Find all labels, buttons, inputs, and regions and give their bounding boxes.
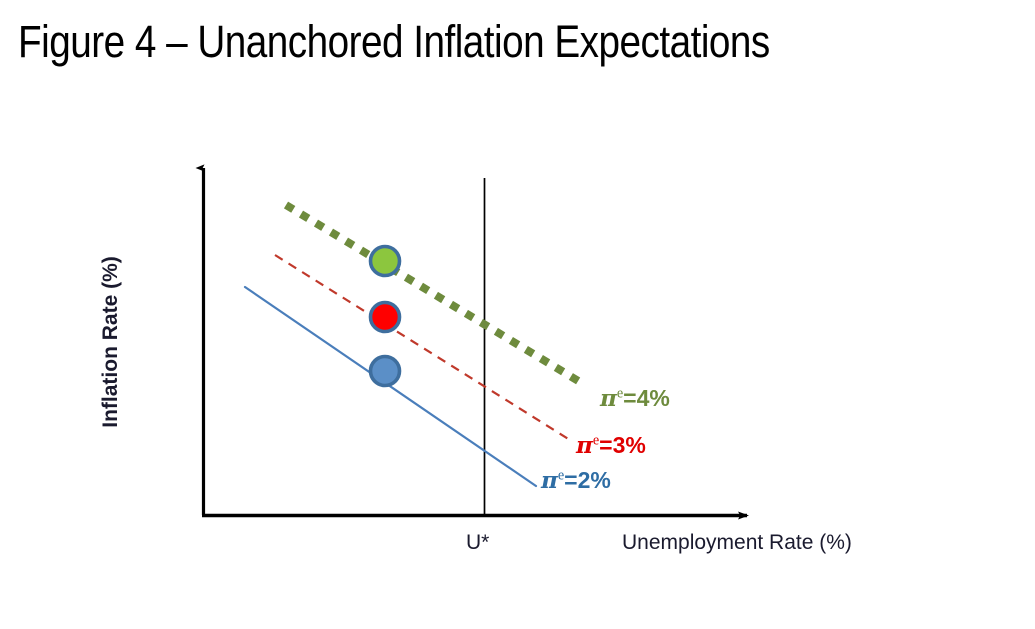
series-label-pi-e-2: πe=2% bbox=[541, 467, 611, 494]
x-axis-title: Unemployment Rate (%) bbox=[622, 531, 852, 555]
natural-rate-label: U* bbox=[466, 531, 489, 555]
phillips-curve-chart: Inflation Rate (%) Unemployment Rate (%)… bbox=[0, 0, 1035, 629]
curve-pi-e-3 bbox=[275, 255, 570, 440]
pi-symbol-green: π bbox=[600, 385, 617, 412]
data-point-pi-e-2 bbox=[371, 357, 400, 386]
pi-value-blue: =2% bbox=[564, 467, 611, 493]
pi-symbol-blue: π bbox=[541, 467, 558, 494]
y-axis-title: Inflation Rate (%) bbox=[99, 217, 123, 467]
chart-canvas bbox=[0, 0, 1035, 629]
series-label-pi-e-4: πe=4% bbox=[600, 385, 670, 412]
data-point-pi-e-3 bbox=[371, 303, 400, 332]
data-point-pi-e-4 bbox=[371, 247, 400, 276]
pi-symbol-red: π bbox=[576, 432, 593, 459]
pi-value-red: =3% bbox=[599, 432, 646, 458]
series-label-pi-e-3: πe=3% bbox=[576, 432, 646, 459]
curve-pi-e-4 bbox=[286, 205, 585, 385]
pi-value-green: =4% bbox=[623, 385, 670, 411]
